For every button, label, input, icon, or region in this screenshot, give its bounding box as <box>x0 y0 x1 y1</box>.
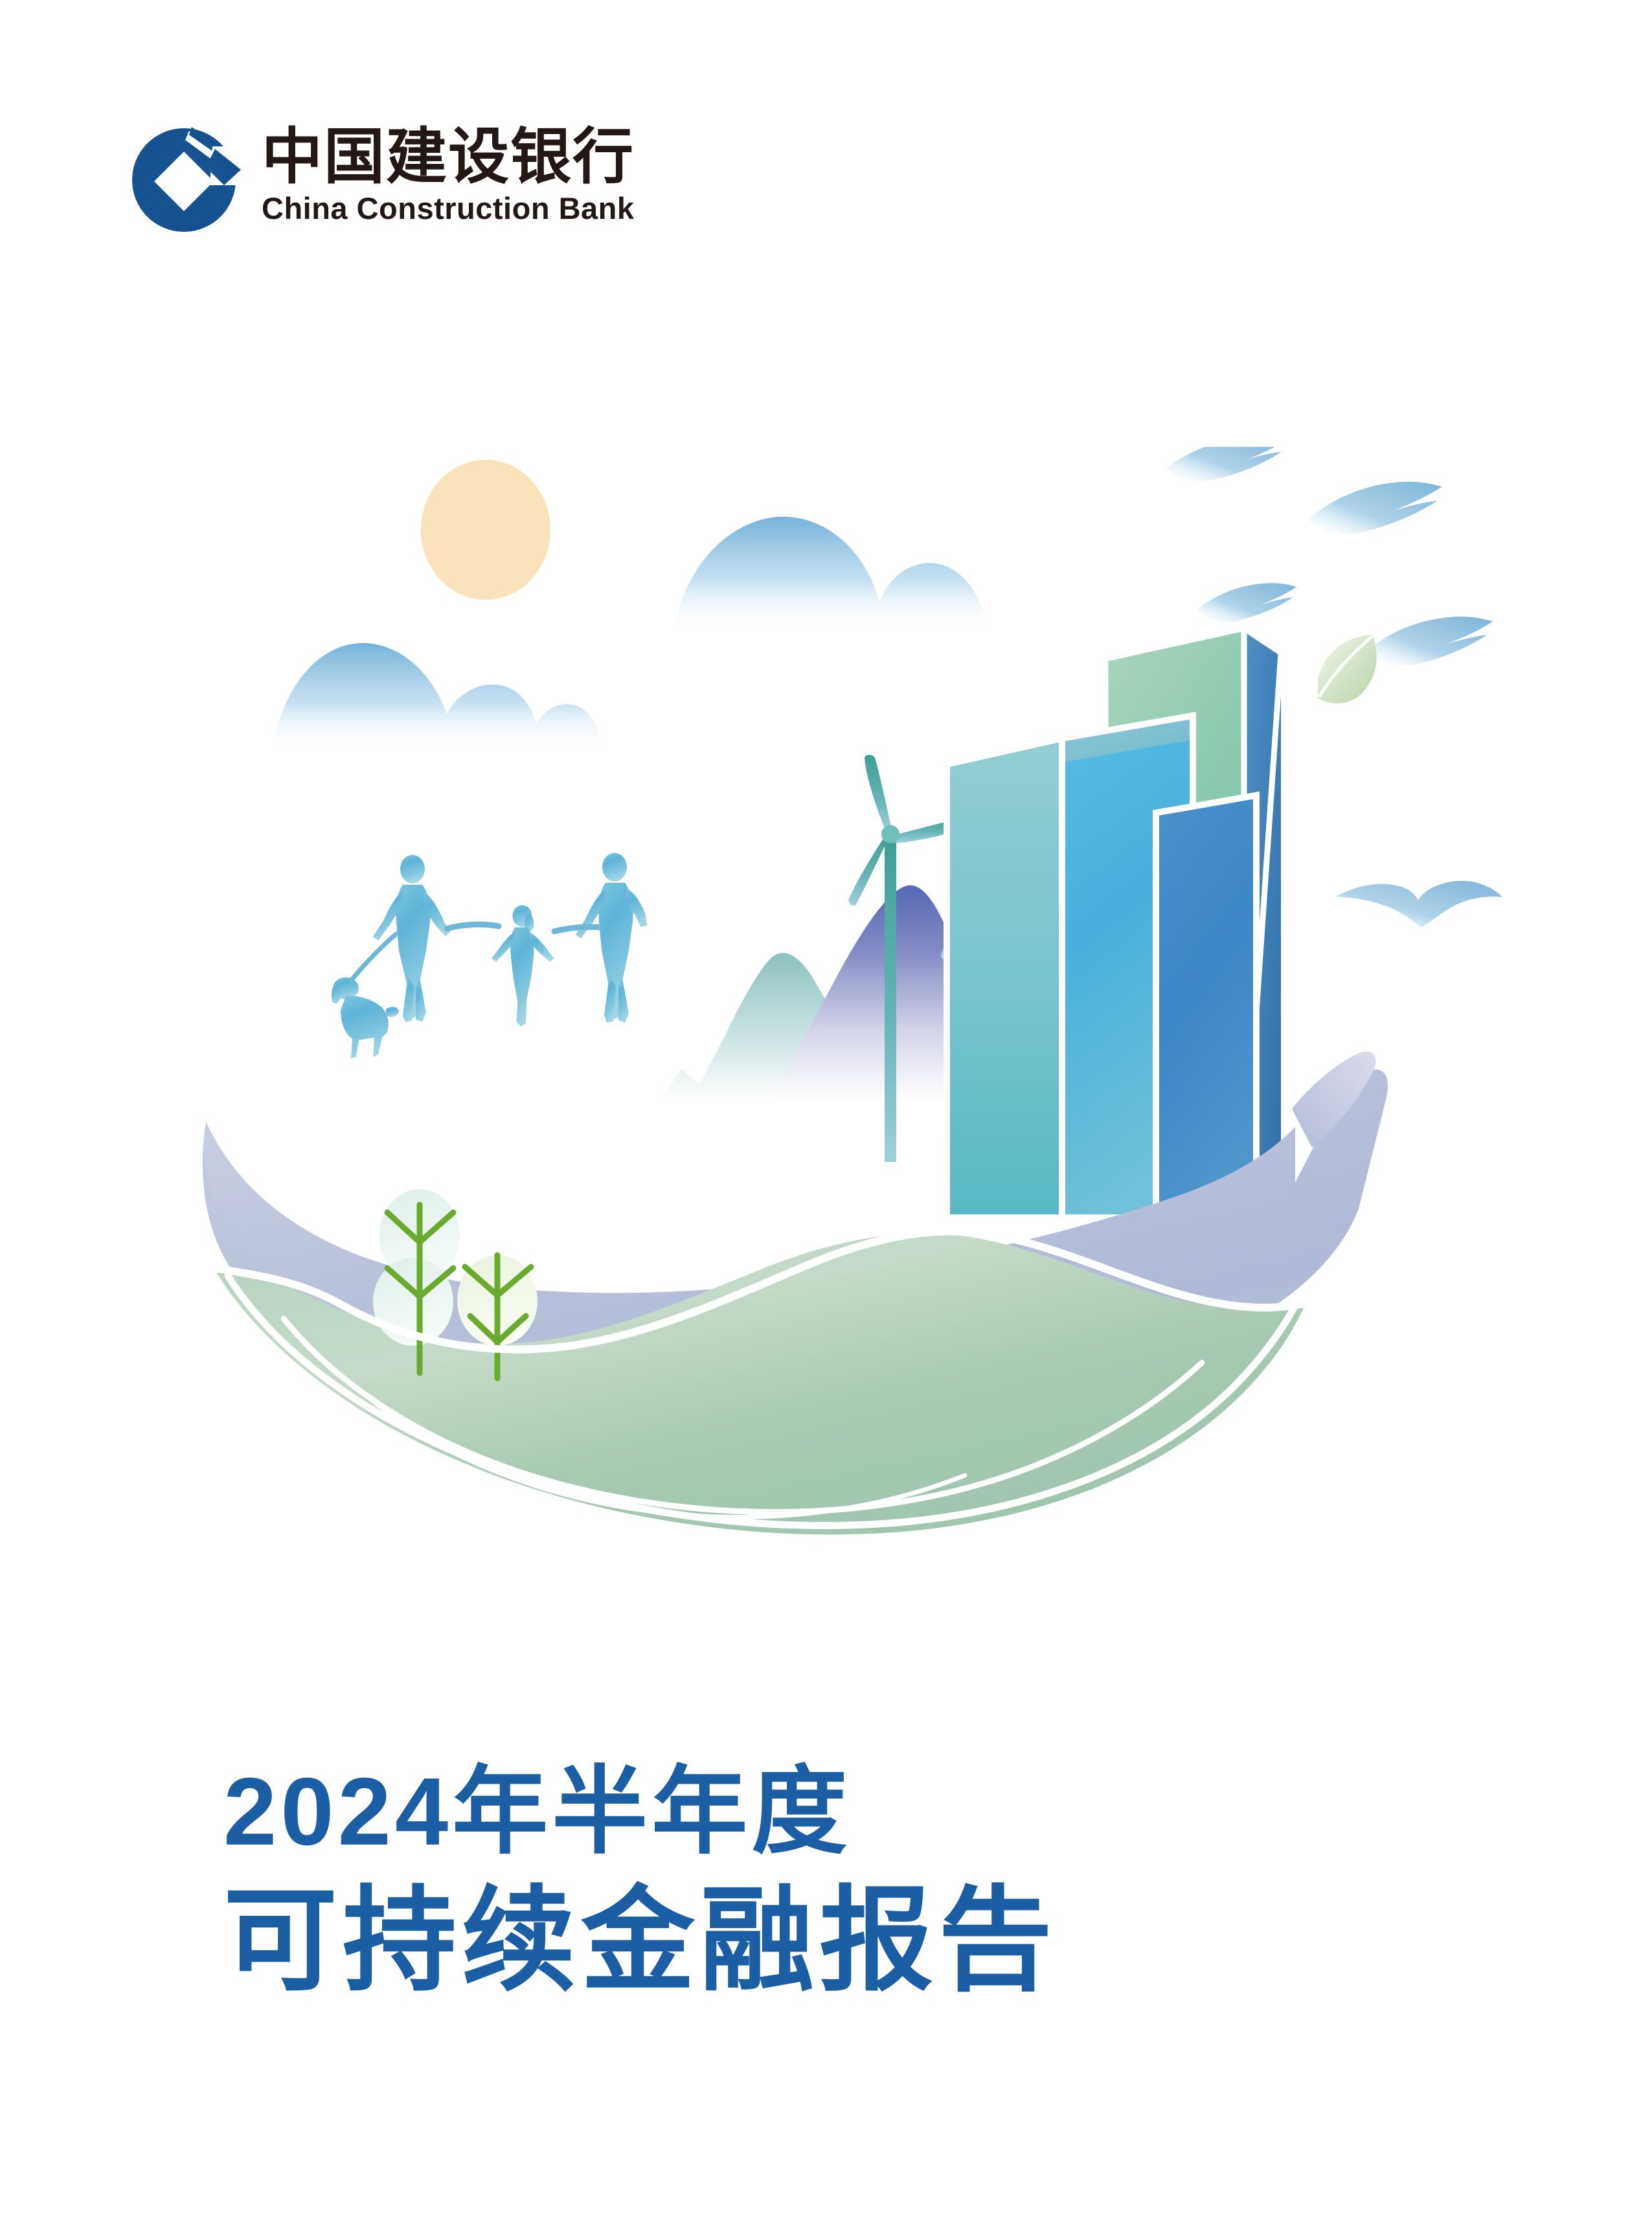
bird-4 <box>1368 617 1493 665</box>
title-line-2: 可持续金融报告 <box>223 1878 1389 2005</box>
bird-5 <box>1336 881 1503 927</box>
brand-name-en: China Construction Bank <box>262 192 635 225</box>
cover-page: 中国建设银行 China Construction Bank <box>0 0 1652 2226</box>
bird-3 <box>1197 583 1296 622</box>
leaf-accent-icon <box>1318 635 1377 703</box>
figure-adult-left <box>373 855 451 1022</box>
cloud-mid-left <box>272 643 602 751</box>
sun-icon <box>421 460 550 600</box>
leash <box>351 934 396 981</box>
cloud-upper-center <box>673 517 988 631</box>
people-group <box>332 853 647 1058</box>
bird-2 <box>1308 482 1442 534</box>
title-line-1: 2024年半年度 <box>223 1758 1389 1866</box>
figure-adult-right <box>576 853 647 1023</box>
figure-dog <box>332 977 399 1058</box>
page-title: 2024年半年度 可持续金融报告 <box>223 1758 1389 2005</box>
building-front-blue <box>1156 795 1256 1231</box>
brand-name-cn: 中国建设银行 <box>262 126 635 188</box>
bird-1 <box>1166 447 1287 481</box>
brand-wordmark: 中国建设银行 China Construction Bank <box>262 123 635 225</box>
ccb-logo-icon <box>127 123 245 234</box>
brand-logo-block: 中国建设银行 China Construction Bank <box>127 123 635 234</box>
cover-illustration <box>0 447 1652 1606</box>
figure-child-center <box>492 905 554 1027</box>
